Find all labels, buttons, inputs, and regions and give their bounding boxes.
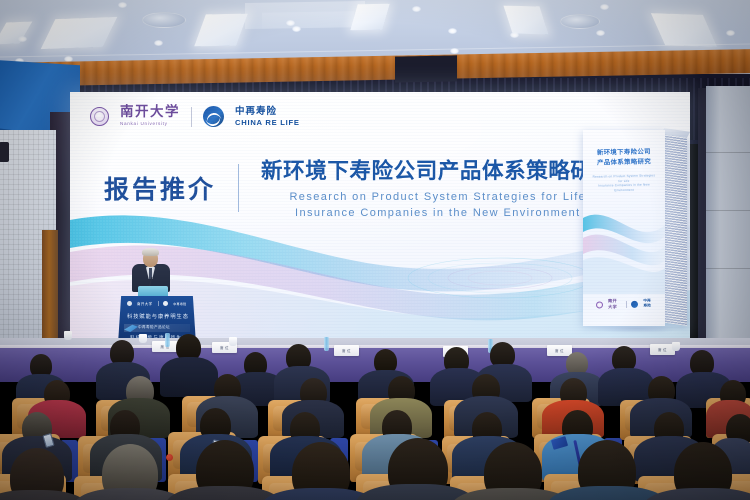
podium-headline: 科技赋能与康养明生态: [127, 313, 189, 320]
ceiling-patch: [262, 11, 354, 29]
nankai-seal-icon: [127, 301, 132, 306]
audience-shoulders: [160, 357, 218, 397]
ceiling-panel-light: [0, 22, 32, 45]
wall-speaker: [0, 142, 9, 162]
speaker-hair: [142, 248, 159, 256]
ceiling-vent: [142, 12, 186, 28]
ceiling-panel-light: [651, 13, 717, 47]
book-title-cn-line2: 产品体系策略研究: [591, 157, 657, 168]
downlight: [448, 28, 457, 34]
title-block: 新环境下寿险公司产品体系策略研究 Research on Product Sys…: [261, 154, 615, 221]
book-title-cn: 新环境下寿险公司 产品体系策略研究: [591, 147, 657, 168]
logo-divider: [191, 107, 192, 127]
wall-seam: [706, 152, 750, 153]
ceiling-vent: [560, 14, 600, 29]
nankai-seal-icon: [90, 107, 109, 126]
downlight: [18, 36, 27, 42]
downlight: [154, 40, 163, 46]
downlight: [118, 2, 127, 8]
china-re-life-mark-icon: [631, 300, 638, 307]
logo-divider: [158, 301, 159, 306]
book-logo-row: 南开大学 中再寿险: [596, 297, 654, 310]
ceiling-panel-light: [503, 6, 548, 35]
china-re-life-logo-en: CHINA RE LIFE: [235, 119, 300, 127]
wood-trim-gap: [395, 55, 457, 82]
screen-logo-bar: 南开大学 Nankai University 中再寿险 CHINA RE LIF…: [90, 106, 300, 127]
book-logo-crl: 中再寿险: [643, 298, 654, 308]
conference-photo: 南开大学 Nankai University 中再寿险 CHINA RE LIF…: [0, 0, 750, 500]
ceiling-panel-light: [194, 14, 248, 47]
ceiling-panel-light: [350, 4, 389, 31]
downlight: [596, 30, 605, 36]
china-re-life-logo-cn: 中再寿险: [235, 107, 300, 117]
audience-area: [0, 330, 750, 500]
book-mockup: 新环境下寿险公司 产品体系策略研究 Research on Product Sy…: [583, 130, 690, 330]
wall-seam: [706, 210, 750, 211]
china-re-life-mark-icon: [203, 106, 224, 127]
textured-wall-right: [706, 86, 750, 344]
wall-seam: [706, 268, 750, 269]
book-logo-nankai: 南开大学: [608, 298, 621, 310]
book-title-en-line2: Insurance Companies in the New Environme…: [591, 183, 657, 194]
book-wave-graphic: [583, 202, 665, 294]
nankai-logo-en: Nankai University: [120, 122, 180, 127]
podium-logo-row: 南开大学 中再寿险: [127, 301, 186, 306]
book-title-en: Research on Product System Strategies fo…: [591, 173, 657, 193]
downlight: [286, 20, 295, 26]
nankai-logo-text: 南开大学 Nankai University: [120, 106, 180, 127]
nankai-seal-icon: [596, 301, 603, 308]
presentation-title-en-line1: Research on Product System Strategies fo…: [261, 190, 615, 206]
presentation-title-en: Research on Product System Strategies fo…: [261, 190, 615, 221]
podium-logo-nankai: 南开大学: [137, 301, 153, 306]
chair-marker-dot: [166, 454, 173, 461]
downlight: [292, 26, 301, 32]
china-re-life-mark-icon: [163, 301, 168, 306]
downlight: [412, 6, 421, 12]
logo-divider: [626, 300, 627, 307]
presentation-title-cn: 新环境下寿险公司产品体系策略研究: [261, 154, 615, 185]
screen-title-row: 报告推介 新环境下寿险公司产品体系策略研究 Research on Produc…: [104, 154, 615, 221]
presentation-title-en-line2: Insurance Companies in the New Environme…: [261, 206, 615, 222]
nankai-logo-cn: 南开大学: [120, 106, 180, 120]
side-door: [42, 230, 58, 338]
downlight: [600, 4, 609, 10]
downlight: [726, 30, 735, 36]
title-divider: [238, 164, 239, 212]
ceiling-panel-light: [41, 17, 118, 49]
report-badge-label: 报告推介: [104, 170, 216, 206]
china-re-life-logo-text: 中再寿险 CHINA RE LIFE: [235, 107, 300, 127]
book-cover: 新环境下寿险公司 产品体系策略研究 Research on Product Sy…: [583, 130, 665, 326]
podium-logo-crl: 中再寿险: [173, 302, 186, 306]
downlight: [510, 32, 519, 38]
